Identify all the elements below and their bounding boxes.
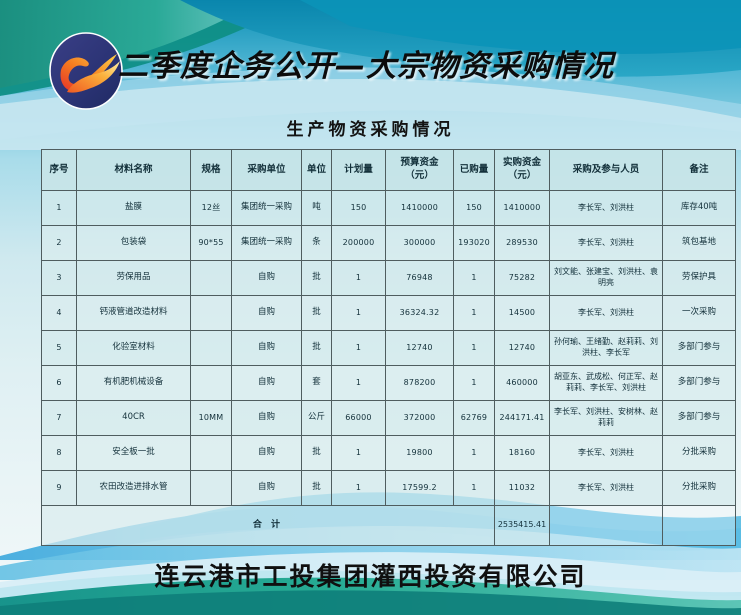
row-bought-qty: 62769 [454, 401, 495, 436]
procurement-table-container: 序号 材料名称 规格 采购单位 单位 计划量 预算资金 （元） 已购量 实购资金… [41, 149, 709, 546]
row-purchase-org: 自购 [232, 366, 302, 401]
row-bought-qty: 1 [454, 471, 495, 506]
row-material: 有机肥机械设备 [77, 366, 191, 401]
row-unit: 批 [302, 261, 332, 296]
row-people: 李长军、刘洪柱、安树林、赵莉莉 [550, 401, 663, 436]
total-remark [663, 506, 736, 546]
row-plan-qty: 1 [332, 261, 386, 296]
row-material: 劳保用品 [77, 261, 191, 296]
table-row: 5化验室材料自购批112740112740孙何瑜、王绪勤、赵莉莉、刘洪柱、李长军… [42, 331, 736, 366]
row-budget: 1410000 [386, 191, 454, 226]
row-material: 化验室材料 [77, 331, 191, 366]
row-actual: 460000 [495, 366, 550, 401]
company-name-footer: 连云港市工投集团灌西投资有限公司 [0, 557, 741, 593]
row-budget: 19800 [386, 436, 454, 471]
col-header-material: 材料名称 [77, 150, 191, 191]
row-purchase-org: 集团统一采购 [232, 191, 302, 226]
col-header-budget-line1: 预算资金 [387, 157, 452, 170]
row-people: 刘文能、张建宝、刘洪柱、袁明亮 [550, 261, 663, 296]
row-actual: 244171.41 [495, 401, 550, 436]
row-unit: 批 [302, 436, 332, 471]
row-spec: 90*55 [191, 226, 232, 261]
row-people: 胡亚东、武成松、何正军、赵莉莉、李长军、刘洪柱 [550, 366, 663, 401]
row-material: 盐膜 [77, 191, 191, 226]
row-people: 李长军、刘洪柱 [550, 191, 663, 226]
row-actual: 14500 [495, 296, 550, 331]
row-bought-qty: 1 [454, 296, 495, 331]
row-plan-qty: 66000 [332, 401, 386, 436]
row-budget: 878200 [386, 366, 454, 401]
row-remark: 多部门参与 [663, 401, 736, 436]
row-people: 李长军、刘洪柱 [550, 296, 663, 331]
row-spec [191, 331, 232, 366]
col-header-unit: 单位 [302, 150, 332, 191]
section-subtitle: 生产物资采购情况 [0, 115, 741, 140]
table-row: 4钙液管道改造材料自购批136324.32114500李长军、刘洪柱一次采购 [42, 296, 736, 331]
col-header-people: 采购及参与人员 [550, 150, 663, 191]
row-actual: 289530 [495, 226, 550, 261]
procurement-table: 序号 材料名称 规格 采购单位 单位 计划量 预算资金 （元） 已购量 实购资金… [41, 149, 736, 546]
company-logo-icon [47, 30, 125, 112]
row-index: 7 [42, 401, 77, 436]
table-row: 3劳保用品自购批176948175282刘文能、张建宝、刘洪柱、袁明亮劳保护具 [42, 261, 736, 296]
row-bought-qty: 150 [454, 191, 495, 226]
col-header-remark: 备注 [663, 150, 736, 191]
col-header-actual: 实购资金 （元） [495, 150, 550, 191]
row-plan-qty: 1 [332, 471, 386, 506]
row-index: 5 [42, 331, 77, 366]
row-actual: 75282 [495, 261, 550, 296]
row-remark: 劳保护具 [663, 261, 736, 296]
col-header-actual-line1: 实购资金 [496, 157, 548, 170]
row-budget: 12740 [386, 331, 454, 366]
table-total-row: 合 计2535415.41 [42, 506, 736, 546]
row-unit: 公斤 [302, 401, 332, 436]
col-header-index: 序号 [42, 150, 77, 191]
row-index: 6 [42, 366, 77, 401]
row-people: 李长军、刘洪柱 [550, 226, 663, 261]
row-purchase-org: 自购 [232, 436, 302, 471]
row-remark: 库存40吨 [663, 191, 736, 226]
row-purchase-org: 自购 [232, 261, 302, 296]
row-actual: 1410000 [495, 191, 550, 226]
row-plan-qty: 1 [332, 296, 386, 331]
table-body: 1盐膜12丝集团统一采购吨15014100001501410000李长军、刘洪柱… [42, 191, 736, 546]
row-bought-qty: 193020 [454, 226, 495, 261]
row-purchase-org: 自购 [232, 296, 302, 331]
row-spec [191, 366, 232, 401]
row-plan-qty: 200000 [332, 226, 386, 261]
table-row: 9农田改造进排水管自购批117599.2111032李长军、刘洪柱分批采购 [42, 471, 736, 506]
row-purchase-org: 自购 [232, 331, 302, 366]
row-remark: 分批采购 [663, 471, 736, 506]
row-plan-qty: 150 [332, 191, 386, 226]
row-actual: 11032 [495, 471, 550, 506]
row-budget: 17599.2 [386, 471, 454, 506]
row-people: 李长军、刘洪柱 [550, 471, 663, 506]
row-material: 钙液管道改造材料 [77, 296, 191, 331]
col-header-budget: 预算资金 （元） [386, 150, 454, 191]
col-header-actual-line2: （元） [496, 170, 548, 183]
page-title: 二季度企务公开—大宗物资采购情况 [118, 41, 718, 85]
row-actual: 12740 [495, 331, 550, 366]
col-header-spec: 规格 [191, 150, 232, 191]
row-spec: 10MM [191, 401, 232, 436]
col-header-budget-line2: （元） [387, 170, 452, 183]
row-spec [191, 296, 232, 331]
table-row: 6有机肥机械设备自购套18782001460000胡亚东、武成松、何正军、赵莉莉… [42, 366, 736, 401]
row-spec [191, 471, 232, 506]
row-people: 孙何瑜、王绪勤、赵莉莉、刘洪柱、李长军 [550, 331, 663, 366]
row-plan-qty: 1 [332, 331, 386, 366]
total-people [550, 506, 663, 546]
row-purchase-org: 集团统一采购 [232, 226, 302, 261]
table-row: 1盐膜12丝集团统一采购吨15014100001501410000李长军、刘洪柱… [42, 191, 736, 226]
row-spec [191, 436, 232, 471]
row-spec [191, 261, 232, 296]
row-remark: 分批采购 [663, 436, 736, 471]
row-spec: 12丝 [191, 191, 232, 226]
row-bought-qty: 1 [454, 436, 495, 471]
row-index: 9 [42, 471, 77, 506]
row-plan-qty: 1 [332, 436, 386, 471]
row-purchase-org: 自购 [232, 401, 302, 436]
row-actual: 18160 [495, 436, 550, 471]
table-row: 740CR10MM自购公斤6600037200062769244171.41李长… [42, 401, 736, 436]
row-plan-qty: 1 [332, 366, 386, 401]
row-remark: 多部门参与 [663, 366, 736, 401]
row-unit: 吨 [302, 191, 332, 226]
row-index: 4 [42, 296, 77, 331]
row-budget: 300000 [386, 226, 454, 261]
row-index: 1 [42, 191, 77, 226]
row-budget: 36324.32 [386, 296, 454, 331]
row-remark: 一次采购 [663, 296, 736, 331]
row-bought-qty: 1 [454, 366, 495, 401]
row-material: 安全板一批 [77, 436, 191, 471]
table-row: 8安全板一批自购批119800118160李长军、刘洪柱分批采购 [42, 436, 736, 471]
row-index: 3 [42, 261, 77, 296]
row-unit: 条 [302, 226, 332, 261]
row-unit: 批 [302, 331, 332, 366]
row-bought-qty: 1 [454, 331, 495, 366]
row-material: 包装袋 [77, 226, 191, 261]
row-budget: 372000 [386, 401, 454, 436]
row-purchase-org: 自购 [232, 471, 302, 506]
row-unit: 批 [302, 296, 332, 331]
row-unit: 套 [302, 366, 332, 401]
row-people: 李长军、刘洪柱 [550, 436, 663, 471]
col-header-plan-qty: 计划量 [332, 150, 386, 191]
row-material: 40CR [77, 401, 191, 436]
col-header-bought-qty: 已购量 [454, 150, 495, 191]
row-unit: 批 [302, 471, 332, 506]
row-remark: 多部门参与 [663, 331, 736, 366]
row-remark: 筑包基地 [663, 226, 736, 261]
poster-header: 二季度企务公开—大宗物资采购情况 [0, 0, 741, 112]
table-row: 2包装袋90*55集团统一采购条200000300000193020289530… [42, 226, 736, 261]
poster-root: 二季度企务公开—大宗物资采购情况 生产物资采购情况 序号 材料名称 规格 采购单… [0, 0, 741, 615]
col-header-purchase-org: 采购单位 [232, 150, 302, 191]
row-bought-qty: 1 [454, 261, 495, 296]
row-material: 农田改造进排水管 [77, 471, 191, 506]
total-label: 合 计 [42, 506, 495, 546]
row-index: 8 [42, 436, 77, 471]
row-index: 2 [42, 226, 77, 261]
row-budget: 76948 [386, 261, 454, 296]
table-header-row: 序号 材料名称 规格 采购单位 单位 计划量 预算资金 （元） 已购量 实购资金… [42, 150, 736, 191]
total-actual-amount: 2535415.41 [495, 506, 550, 546]
